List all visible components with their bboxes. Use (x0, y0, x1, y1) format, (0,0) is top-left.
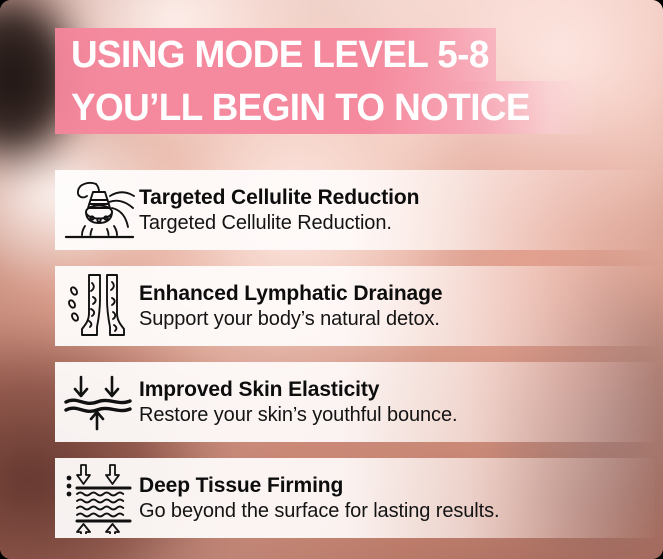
headline-line-1-band: USING MODE LEVEL 5-8 (55, 28, 496, 81)
feature-text: Enhanced Lymphatic Drainage Support your… (137, 281, 655, 332)
headline-line-1: USING MODE LEVEL 5-8 (71, 35, 489, 75)
cavitation-handpiece-icon (61, 176, 137, 244)
feature-subtitle: Restore your skin’s youthful bounce. (139, 402, 655, 428)
feature-title: Enhanced Lymphatic Drainage (139, 281, 655, 306)
feature-text: Targeted Cellulite Reduction Targeted Ce… (137, 185, 655, 236)
feature-row: Targeted Cellulite Reduction Targeted Ce… (55, 170, 655, 250)
feature-subtitle: Go beyond the surface for lasting result… (139, 498, 655, 524)
feature-text: Deep Tissue Firming Go beyond the surfac… (137, 473, 655, 524)
feature-title: Improved Skin Elasticity (139, 377, 655, 402)
feature-row: Improved Skin Elasticity Restore your sk… (55, 362, 655, 442)
feature-subtitle: Targeted Cellulite Reduction. (139, 210, 655, 236)
feature-subtitle: Support your body’s natural detox. (139, 306, 655, 332)
feature-row: Deep Tissue Firming Go beyond the surfac… (55, 458, 655, 538)
deep-tissue-layers-icon (61, 464, 137, 532)
headline-banner: USING MODE LEVEL 5-8 YOU’LL BEGIN TO NOT… (55, 28, 615, 134)
feature-list: Targeted Cellulite Reduction Targeted Ce… (55, 170, 655, 538)
feature-title: Deep Tissue Firming (139, 473, 655, 498)
headline-line-2-band: YOU’LL BEGIN TO NOTICE (55, 81, 593, 134)
skin-elasticity-waves-icon (61, 368, 137, 436)
promo-card: USING MODE LEVEL 5-8 YOU’LL BEGIN TO NOT… (0, 0, 663, 559)
feature-text: Improved Skin Elasticity Restore your sk… (137, 377, 655, 428)
feature-title: Targeted Cellulite Reduction (139, 185, 655, 210)
legs-lymphatic-icon (61, 272, 137, 340)
headline-line-2: YOU’LL BEGIN TO NOTICE (71, 88, 530, 128)
feature-row: Enhanced Lymphatic Drainage Support your… (55, 266, 655, 346)
